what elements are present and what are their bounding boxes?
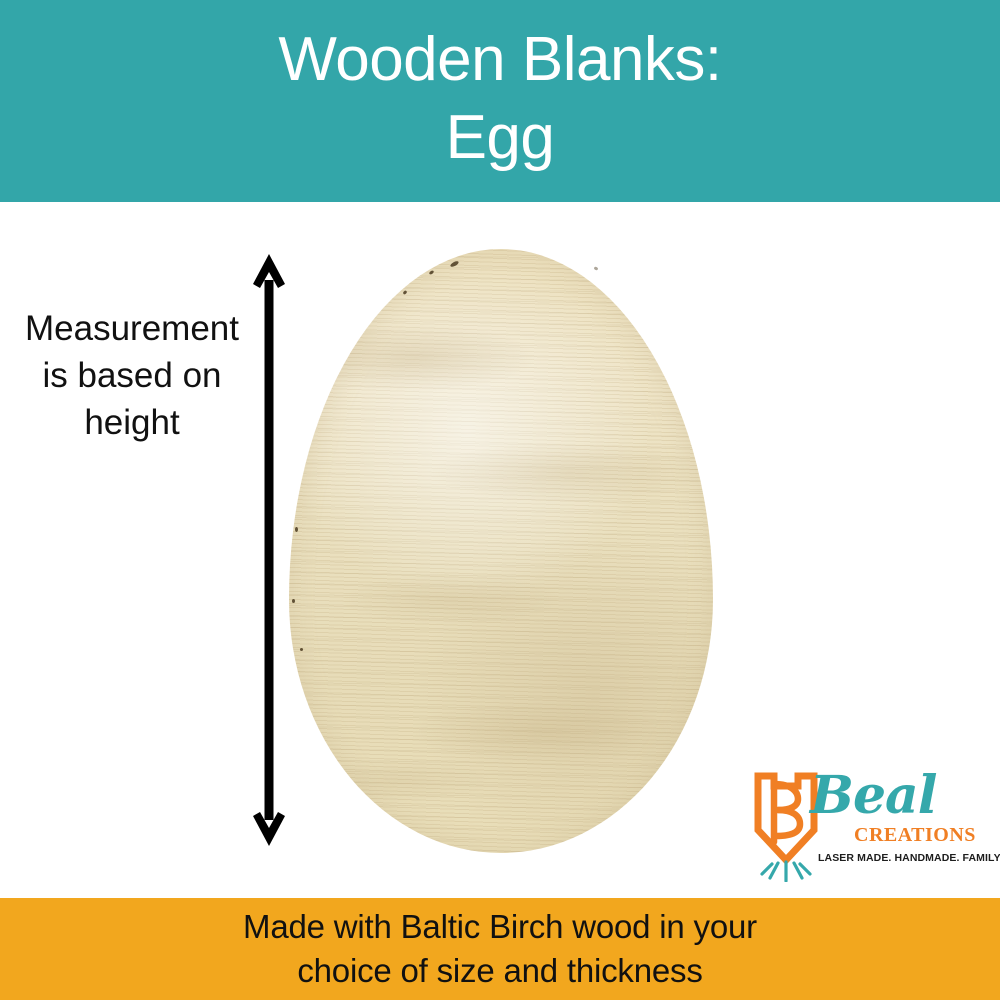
measurement-caption-line-1: Measurement: [8, 305, 256, 352]
wooden-egg-blank: [289, 249, 713, 853]
measurement-caption: Measurement is based on height: [8, 305, 256, 446]
height-measurement-arrow: [252, 252, 286, 848]
brand-logo: Beal Creations LASER MADE. HANDMADE. FAM…: [748, 762, 988, 884]
footer-text-line-2: choice of size and thickness: [297, 949, 702, 993]
double-headed-vertical-arrow-icon: [252, 252, 286, 848]
logo-brand-script: Beal: [810, 768, 936, 824]
product-image-canvas: Wooden Blanks: Egg Measurement is based …: [0, 0, 1000, 1000]
laser-burn-mark: [594, 266, 599, 270]
footer-text-line-1: Made with Baltic Birch wood in your: [243, 905, 757, 949]
page-title-line-1: Wooden Blanks:: [278, 21, 721, 99]
logo-brand-word: Creations: [854, 818, 976, 848]
measurement-caption-line-3: height: [8, 399, 256, 446]
egg-body: [289, 249, 713, 853]
logo-wordmark: Beal Creations LASER MADE. HANDMADE. FAM…: [810, 768, 988, 880]
footer-banner: Made with Baltic Birch wood in your choi…: [0, 898, 1000, 1000]
measurement-caption-line-2: is based on: [8, 352, 256, 399]
page-title-line-2: Egg: [446, 99, 555, 177]
logo-tagline: LASER MADE. HANDMADE. FAMILY MADE.: [818, 852, 1000, 864]
header-banner: Wooden Blanks: Egg: [0, 0, 1000, 202]
